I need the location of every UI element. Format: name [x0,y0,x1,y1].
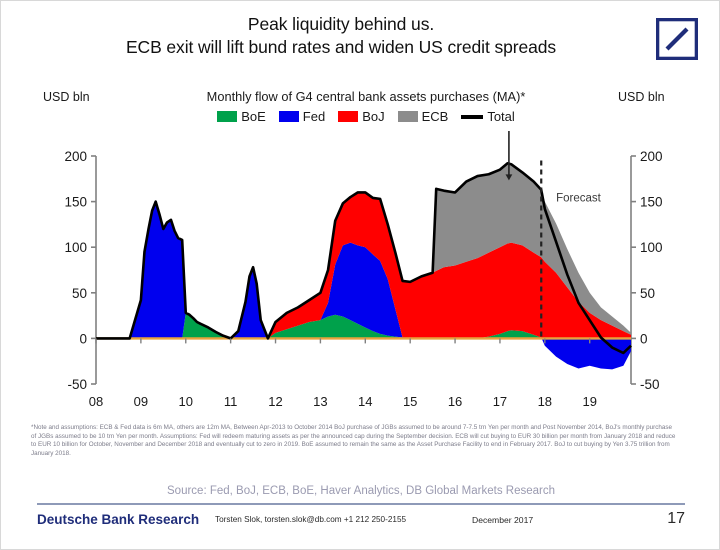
footer-date: December 2017 [472,515,533,525]
y-tick-label-right: 100 [640,240,663,255]
footer-contact: Torsten Slok, torsten.slok@db.com +1 212… [215,515,406,524]
chart-plot-area: -50-500050501001001501502002000809101112… [1,131,720,416]
footer-page-number: 17 [667,510,685,528]
y-tick-label-left: 0 [79,331,87,346]
y-tick-label-right: -50 [640,377,660,392]
y-axis-unit-right: USD bln [618,90,665,104]
legend-item-fed: Fed [279,109,325,124]
x-tick-label: 13 [313,394,327,409]
legend-item-boj: BoJ [338,109,384,124]
legend-swatch-boe [217,111,237,122]
chart-title: Monthly flow of G4 central bank assets p… [151,89,581,104]
chart-footnote: *Note and assumptions: ECB & Fed data is… [31,424,679,458]
x-tick-label: 12 [268,394,282,409]
legend-item-total: Total [461,109,514,124]
y-tick-label-right: 0 [640,331,648,346]
y-axis-unit-left: USD bln [43,90,90,104]
legend-item-ecb: ECB [398,109,449,124]
legend-swatch-ecb [398,111,418,122]
chart-legend: BoE Fed BoJ ECB Total [151,109,581,124]
y-tick-label-left: 150 [64,195,87,210]
x-tick-label: 15 [403,394,417,409]
title-line-2: ECB exit will lift bund rates and widen … [41,36,641,59]
deutsche-bank-logo [656,18,698,60]
y-tick-label-left: 50 [72,286,87,301]
slide: Peak liquidity behind us. ECB exit will … [0,0,720,550]
legend-label-boj: BoJ [362,109,384,124]
legend-item-boe: BoE [217,109,266,124]
legend-label-boe: BoE [241,109,266,124]
legend-label-ecb: ECB [422,109,449,124]
y-tick-label-right: 50 [640,286,655,301]
annotation-forecast: Forecast [556,193,602,205]
page-title: Peak liquidity behind us. ECB exit will … [41,13,641,59]
legend-label-total: Total [487,109,514,124]
source-line: Source: Fed, BoJ, ECB, BoE, Haver Analyt… [1,485,720,497]
x-tick-label: 11 [224,394,238,409]
legend-label-fed: Fed [303,109,325,124]
y-tick-label-left: -50 [67,377,87,392]
legend-swatch-boj [338,111,358,122]
x-tick-label: 16 [448,394,462,409]
title-line-1: Peak liquidity behind us. [41,13,641,36]
stacked-area-chart: -50-500050501001001501502002000809101112… [1,131,720,416]
y-tick-label-right: 200 [640,149,663,164]
y-tick-label-right: 150 [640,195,663,210]
x-tick-label: 09 [134,394,148,409]
x-tick-label: 10 [179,394,193,409]
x-tick-label: 19 [582,394,596,409]
x-tick-label: 14 [358,394,372,409]
footer-brand: Deutsche Bank Research [37,512,199,527]
legend-swatch-fed [279,111,299,122]
slide-footer: Deutsche Bank Research Torsten Slok, tor… [37,510,685,534]
legend-swatch-total [461,115,483,119]
y-tick-label-left: 200 [64,149,87,164]
x-tick-label: 17 [493,394,507,409]
footer-divider [37,503,685,505]
x-tick-label: 18 [538,394,552,409]
x-tick-label: 08 [89,394,103,409]
y-tick-label-left: 100 [64,240,87,255]
